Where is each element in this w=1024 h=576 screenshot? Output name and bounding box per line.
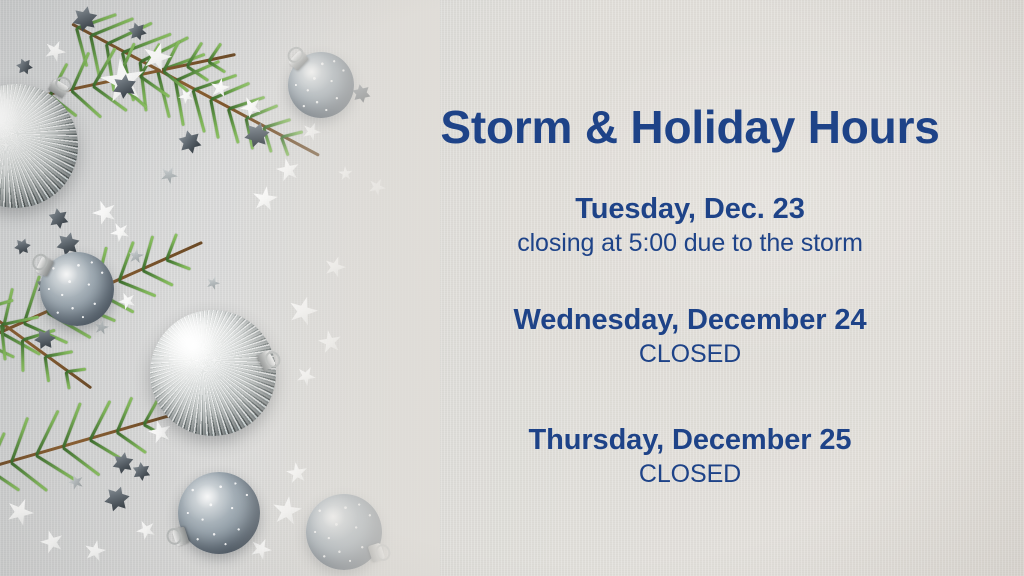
schedule-entry-wednesday: Wednesday, December 24 CLOSED (384, 303, 996, 371)
schedule-entry-tuesday: Tuesday, Dec. 23 closing at 5:00 due to … (384, 192, 996, 260)
poster-text-content: Storm & Holiday Hours Tuesday, Dec. 23 c… (384, 0, 996, 576)
schedule-status-label: CLOSED (384, 458, 996, 491)
schedule-day-label: Thursday, December 25 (384, 423, 996, 458)
schedule-status-label: closing at 5:00 due to the storm (384, 227, 996, 260)
schedule-entry-thursday: Thursday, December 25 CLOSED (384, 423, 996, 491)
page-title: Storm & Holiday Hours (384, 103, 996, 153)
schedule-status-label: CLOSED (384, 338, 996, 371)
holiday-hours-poster: Storm & Holiday Hours Tuesday, Dec. 23 c… (0, 0, 1024, 576)
schedule-day-label: Wednesday, December 24 (384, 303, 996, 338)
schedule-day-label: Tuesday, Dec. 23 (384, 192, 996, 227)
